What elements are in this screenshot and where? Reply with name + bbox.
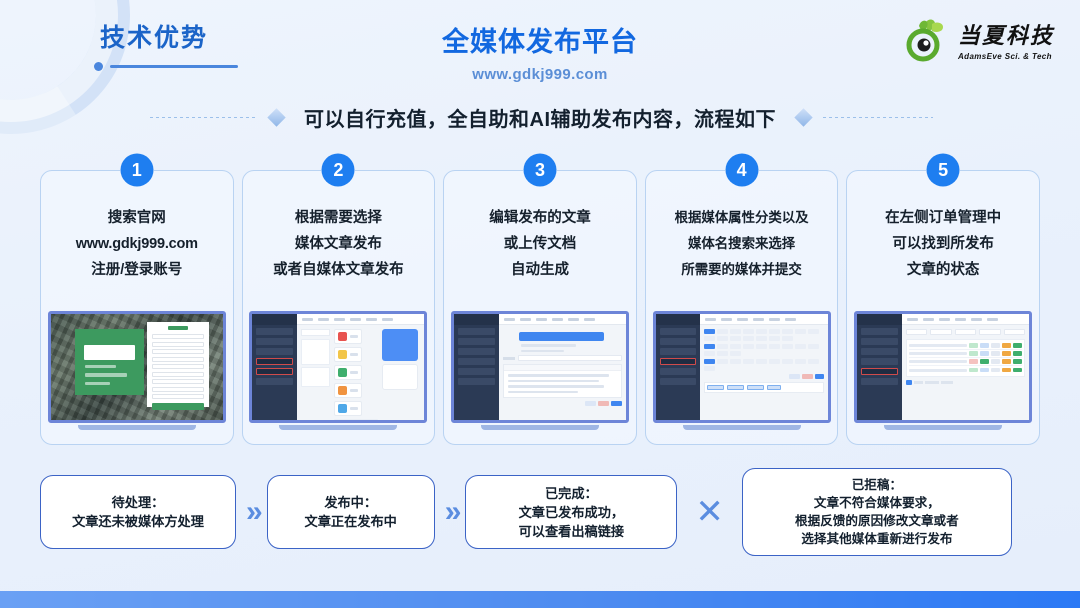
status-line: 根据反馈的原因修改文章或者 (795, 512, 959, 530)
status-line: 文章不符合媒体要求， (814, 494, 940, 512)
chevron-separator-icon: » (441, 497, 460, 527)
tagline-diamond-left-icon (267, 108, 285, 126)
step-text-4: 根据媒体属性分类以及 媒体名搜索来选择 所需要的媒体并提交 (646, 205, 838, 283)
dashboard-page-screenshot (249, 311, 427, 430)
status-line: 文章已发布成功， (519, 503, 625, 522)
step-text-5: 在左侧订单管理中 可以找到所发布 文章的状态 (847, 205, 1039, 283)
step-text-2: 根据需要选择 媒体文章发布 或者自媒体文章发布 (243, 205, 435, 283)
eye-leaf-logo-icon (902, 16, 949, 63)
step-badge-2: 2 (323, 155, 353, 185)
tagline-rule-left (147, 117, 257, 118)
status-box-pending[interactable]: 待处理： 文章还未被媒体方处理 (40, 475, 236, 549)
status-line: 文章还未被媒体方处理 (72, 512, 204, 531)
brand-logo: 当夏科技 AdamsEve Sci. & Tech (902, 16, 1054, 63)
step-line: 注册/登录账号 (47, 257, 227, 283)
status-line: 发布中： (324, 493, 377, 512)
cross-separator-icon: ✕ (683, 495, 736, 529)
step-line: 编辑发布的文章 (450, 205, 630, 231)
brand-name-cn: 当夏科技 (958, 18, 1054, 50)
brand-text-block: 当夏科技 AdamsEve Sci. & Tech (958, 18, 1054, 61)
tagline-diamond-right-icon (794, 108, 812, 126)
site-url: www.gdkj999.com (0, 66, 1080, 83)
step-line: 媒体名搜索来选择 (652, 231, 832, 257)
chevron-separator-icon: » (242, 497, 261, 527)
bottom-accent-bar (0, 591, 1080, 608)
status-line: 待处理： (112, 493, 165, 512)
status-line: 文章正在发布中 (305, 512, 397, 531)
tagline-text: 可以自行充值，全自助和AI辅助发布内容，流程如下 (296, 103, 784, 132)
tagline-rule-right (823, 117, 933, 118)
step-card-5[interactable]: 5 在左侧订单管理中 可以找到所发布 文章的状态 (846, 170, 1040, 445)
status-box-rejected[interactable]: 已拒稿： 文章不符合媒体要求， 根据反馈的原因修改文章或者 选择其他媒体重新进行… (742, 468, 1012, 556)
step-badge-5: 5 (928, 155, 958, 185)
step-line: 在左侧订单管理中 (853, 205, 1033, 231)
step-line: 文章的状态 (853, 257, 1033, 283)
step-line: 根据需要选择 (249, 205, 429, 231)
media-selection-page-screenshot (653, 311, 831, 430)
article-editor-page-screenshot (451, 311, 629, 430)
tagline-row: 可以自行充值，全自助和AI辅助发布内容，流程如下 (0, 95, 1080, 139)
order-list-page-screenshot (854, 311, 1032, 430)
step-card-4[interactable]: 4 根据媒体属性分类以及 媒体名搜索来选择 所需要的媒体并提交 (645, 170, 839, 445)
step-badge-4: 4 (727, 155, 757, 185)
status-box-publishing[interactable]: 发布中： 文章正在发布中 (267, 475, 435, 549)
step-line: 或者自媒体文章发布 (249, 257, 429, 283)
step-line: 所需要的媒体并提交 (652, 257, 832, 283)
step-badge-3: 3 (525, 155, 555, 185)
step-text-1: 搜索官网 www.gdkj999.com 注册/登录账号 (41, 205, 233, 283)
step-line: 或上传文档 (450, 231, 630, 257)
status-line: 已完成： (545, 484, 598, 503)
step-line: 自动生成 (450, 257, 630, 283)
step-line: 媒体文章发布 (249, 231, 429, 257)
step-cards-row: 1 搜索官网 www.gdkj999.com 注册/登录账号 (40, 170, 1040, 445)
step-badge-1: 1 (122, 155, 152, 185)
status-box-completed[interactable]: 已完成： 文章已发布成功， 可以查看出稿链接 (465, 475, 677, 549)
step-line: 根据媒体属性分类以及 (652, 205, 832, 231)
step-line: www.gdkj999.com (47, 231, 227, 257)
page-header: 技术优势 全媒体发布平台 www.gdkj999.com 当夏科技 AdamsE… (0, 0, 1080, 92)
step-card-2[interactable]: 2 根据需要选择 媒体文章发布 或者自媒体文章发布 (242, 170, 436, 445)
step-text-3: 编辑发布的文章 或上传文档 自动生成 (444, 205, 636, 283)
brand-name-en: AdamsEve Sci. & Tech (958, 52, 1052, 61)
register-login-page-screenshot (48, 311, 226, 430)
status-line: 已拒稿： (852, 476, 902, 494)
status-line: 选择其他媒体重新进行发布 (801, 530, 952, 548)
status-flow-row: 待处理： 文章还未被媒体方处理 » 发布中： 文章正在发布中 » 已完成： 文章… (40, 466, 1040, 558)
step-card-1[interactable]: 1 搜索官网 www.gdkj999.com 注册/登录账号 (40, 170, 234, 445)
status-line: 可以查看出稿链接 (519, 522, 625, 541)
step-line: 可以找到所发布 (853, 231, 1033, 257)
step-card-3[interactable]: 3 编辑发布的文章 或上传文档 自动生成 (443, 170, 637, 445)
step-line: 搜索官网 (47, 205, 227, 231)
